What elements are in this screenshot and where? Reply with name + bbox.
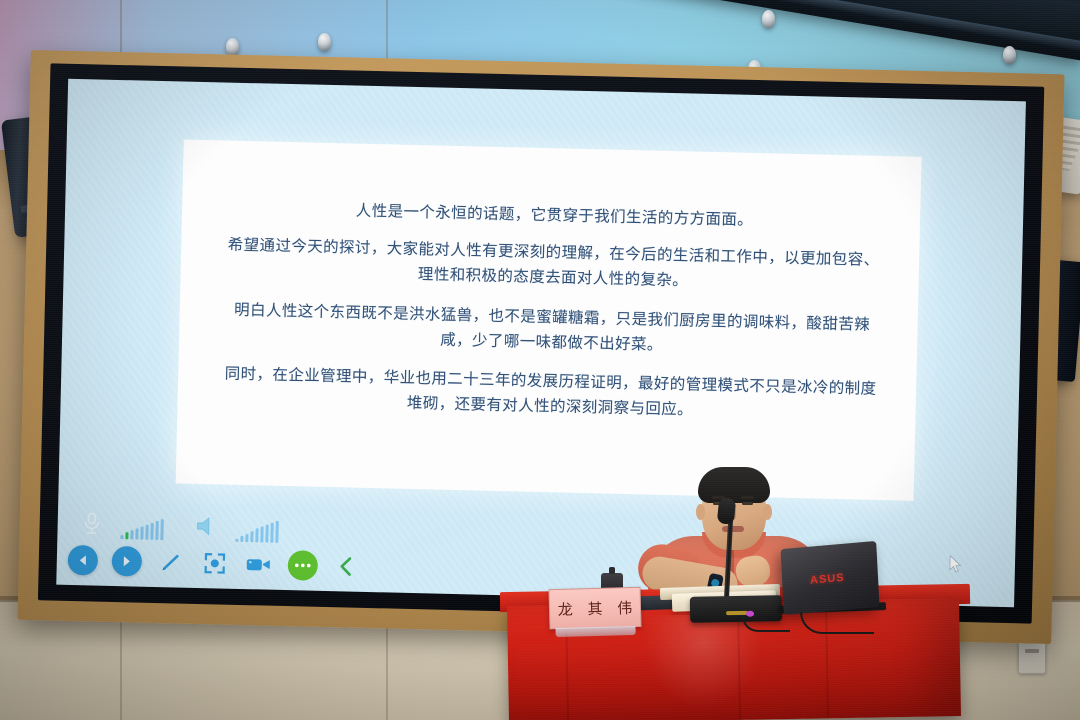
nameplate: 龙 其 伟 — [548, 587, 641, 629]
screen-surface[interactable]: 人性是一个永恒的话题，它贯穿于我们生活的方方面面。 希望通过今天的探讨，大家能对… — [56, 79, 1026, 607]
meter-bar — [270, 523, 273, 543]
meter-bar — [255, 529, 258, 543]
presenter-hair — [698, 467, 770, 503]
meter-bar — [245, 535, 248, 543]
mouse-cursor-icon — [949, 555, 963, 578]
meter-bar-active — [126, 533, 129, 540]
laptop[interactable]: ASUS — [780, 541, 879, 615]
ceiling-spotlight — [318, 33, 331, 51]
presentation-room-photo: 人性是一个永恒的话题，它贯穿于我们生活的方方面面。 希望通过今天的探讨，大家能对… — [0, 0, 1080, 720]
meter-bar — [140, 527, 143, 540]
slide-white-card: 人性是一个永恒的话题，它贯穿于我们生活的方方面面。 希望通过今天的探讨，大家能对… — [176, 140, 922, 501]
meter-bar — [235, 539, 238, 542]
speaker-icon[interactable] — [191, 511, 222, 542]
meter-bar — [130, 531, 133, 540]
slide-paragraph-2: 希望通过今天的探讨，大家能对人性有更深刻的理解，在今后的生活和工作中，以更加包容… — [225, 233, 883, 299]
slide-text-block: 人性是一个永恒的话题，它贯穿于我们生活的方方面面。 希望通过今天的探讨，大家能对… — [221, 196, 883, 436]
meter-bar — [145, 525, 148, 540]
more-button[interactable] — [288, 550, 319, 581]
meter-bar — [135, 529, 138, 540]
presenter-ear — [763, 504, 772, 520]
presenter-mouth — [722, 526, 744, 532]
presenter-brow — [741, 496, 754, 499]
meter-bar — [121, 536, 124, 540]
slide-paragraph-1: 人性是一个永恒的话题，它贯穿于我们生活的方方面面。 — [226, 196, 883, 237]
meter-bar — [240, 536, 243, 542]
previous-button[interactable] — [68, 545, 99, 576]
microphone-level-bars — [121, 520, 164, 541]
microphone-icon[interactable] — [77, 509, 108, 540]
ceiling-spotlight — [1003, 46, 1016, 64]
play-button[interactable] — [112, 546, 143, 577]
ceiling-spotlight — [762, 10, 775, 28]
slide-paragraph-4: 同时，在企业管理中，华业也用二十三年的发展历程证明，最好的管理模式不只是冰冷的制… — [222, 361, 880, 427]
chevron-left-icon[interactable] — [332, 551, 363, 582]
ceiling-spotlight — [226, 38, 239, 56]
presenter-ear — [696, 504, 705, 520]
nameplate-card: 龙 其 伟 — [548, 587, 641, 629]
audio-meters — [77, 509, 280, 544]
meter-bar — [155, 521, 158, 540]
meter-bar — [275, 521, 279, 543]
pencil-icon[interactable] — [156, 547, 187, 578]
nameplate-text: 龙 其 伟 — [552, 596, 637, 619]
slide-paragraph-3: 明白人性这个东西既不是洪水猛兽，也不是蜜罐糖霜，只是我们厨房里的调味料，酸甜苦辣… — [223, 297, 881, 363]
laptop-brand-logo: ASUS — [810, 572, 845, 587]
desk-cable — [800, 612, 874, 634]
meter-bar — [260, 527, 263, 543]
meter-bar — [150, 523, 153, 540]
presenter-eye — [742, 502, 753, 505]
led-video-wall: 人性是一个永恒的话题，它贯穿于我们生活的方方面面。 希望通过今天的探讨，大家能对… — [17, 50, 1064, 644]
desk-cable — [742, 616, 790, 632]
speaker-level-bars — [235, 522, 278, 543]
meter-bar — [160, 520, 163, 541]
meter-bar — [265, 525, 268, 543]
focus-brackets-icon[interactable] — [200, 548, 231, 579]
video-camera-icon[interactable] — [244, 549, 275, 580]
meter-bar — [250, 532, 253, 543]
